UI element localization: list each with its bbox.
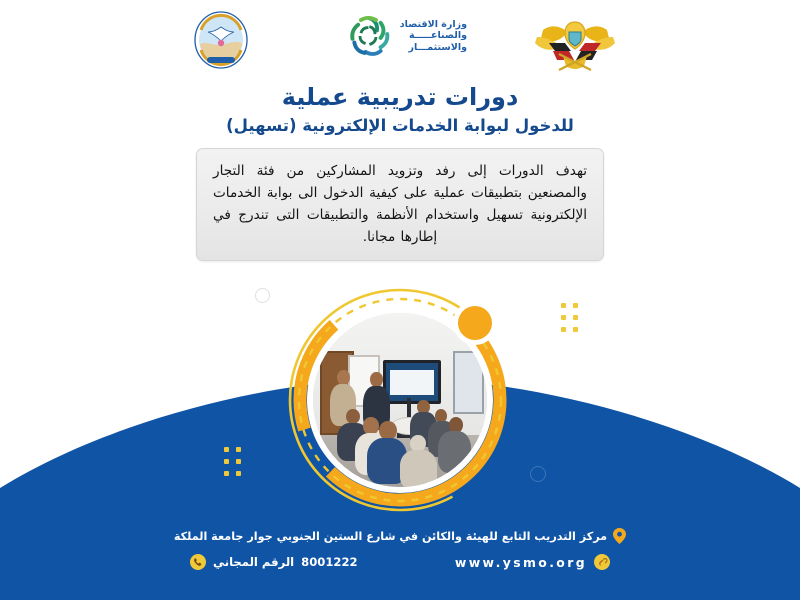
description-box: تهدف الدورات إلى رفد وتزويد المشاركين من… xyxy=(196,148,604,261)
ministry-name-text: وزارة الاقتصاد والصناعـــــة والاستثمـــ… xyxy=(400,19,467,53)
link-icon xyxy=(594,554,610,570)
footer-phone-label: الرقم المجاني xyxy=(213,555,294,569)
footer-website-text: www.ysmo.org xyxy=(455,555,587,570)
training-session-photo xyxy=(313,313,487,487)
page-subtitle: للدخول لبوابة الخدمات الإلكترونية (تسهيل… xyxy=(0,116,800,136)
footer-address-row: مركز التدريب التابع للهيئة والكائن في شا… xyxy=(0,528,800,544)
ministry-name-line-1: وزارة الاقتصاد xyxy=(400,19,467,30)
ysmo-authority-seal-logo xyxy=(193,10,249,70)
ministry-mark-icon xyxy=(345,11,394,61)
poster-root: وزارة الاقتصاد والصناعـــــة والاستثمـــ… xyxy=(0,0,800,600)
photo-stage xyxy=(282,282,518,518)
footer-website[interactable]: www.ysmo.org xyxy=(455,554,610,570)
dot-grid-left xyxy=(224,447,241,476)
dot-grid-right xyxy=(561,303,578,332)
yemen-national-emblem-logo xyxy=(533,10,617,76)
footer-contact-row: www.ysmo.org الرقم المجاني 8001222 xyxy=(190,554,610,570)
location-pin-icon xyxy=(613,528,626,544)
circle-outline-decoration-top-left xyxy=(255,288,270,303)
page-title: دورات تدريبية عملية xyxy=(0,84,800,112)
header-logo-bar: وزارة الاقتصاد والصناعـــــة والاستثمـــ… xyxy=(0,0,800,82)
footer-phone[interactable]: الرقم المجاني 8001222 xyxy=(190,554,358,570)
footer-address-text: مركز التدريب التابع للهيئة والكائن في شا… xyxy=(174,530,607,543)
accent-dot-decoration xyxy=(458,306,492,340)
description-text: تهدف الدورات إلى رفد وتزويد المشاركين من… xyxy=(213,160,587,248)
phone-icon xyxy=(190,554,206,570)
ministry-logo: وزارة الاقتصاد والصناعـــــة والاستثمـــ… xyxy=(345,10,467,62)
ministry-name-line-3: والاستثمـــار xyxy=(409,42,467,53)
footer: مركز التدريب التابع للهيئة والكائن في شا… xyxy=(0,528,800,570)
footer-phone-number: 8001222 xyxy=(301,555,357,569)
ministry-name-line-2: والصناعـــــة xyxy=(409,30,467,41)
title-block: دورات تدريبية عملية للدخول لبوابة الخدما… xyxy=(0,84,800,135)
circle-outline-decoration-bottom-right xyxy=(530,466,546,482)
